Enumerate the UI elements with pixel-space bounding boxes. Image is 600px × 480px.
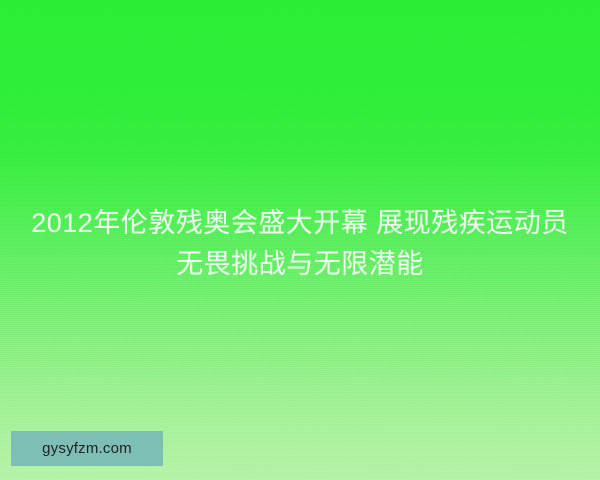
promo-banner: 2012年伦敦残奥会盛大开幕 展现残疾运动员无畏挑战与无限潜能 gysyfzm.…	[0, 0, 600, 480]
watermark-badge: gysyfzm.com	[11, 431, 163, 466]
headline-text: 2012年伦敦残奥会盛大开幕 展现残疾运动员无畏挑战与无限潜能	[0, 203, 600, 285]
watermark-label: gysyfzm.com	[42, 440, 132, 457]
